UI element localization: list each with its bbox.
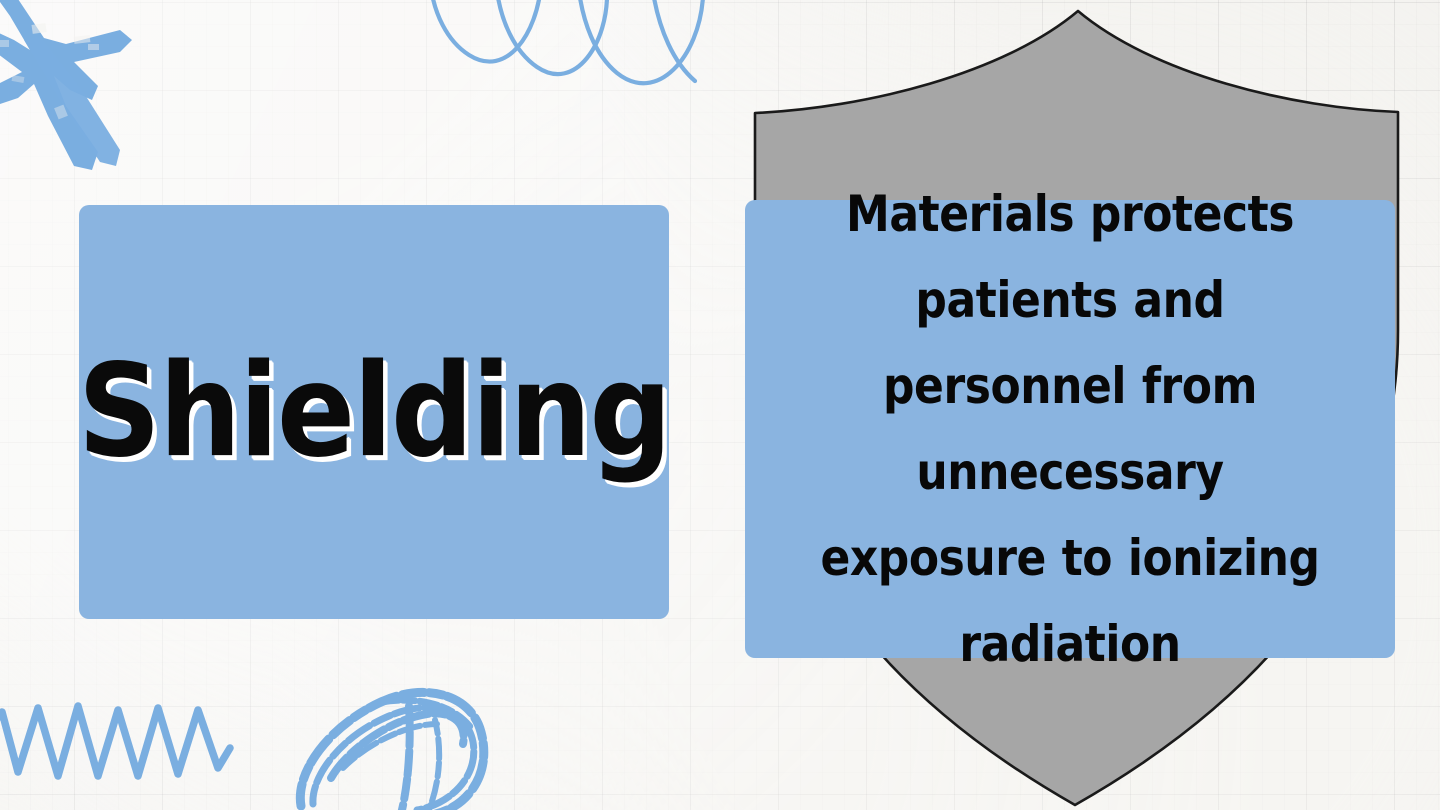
slide-canvas: Shielding Materials protects patients an… [0, 0, 1440, 810]
title-card: Shielding [79, 205, 669, 619]
body-text: Materials protects patients and personne… [796, 171, 1343, 687]
body-card: Materials protects patients and personne… [745, 200, 1395, 658]
page-title: Shielding [78, 347, 670, 478]
